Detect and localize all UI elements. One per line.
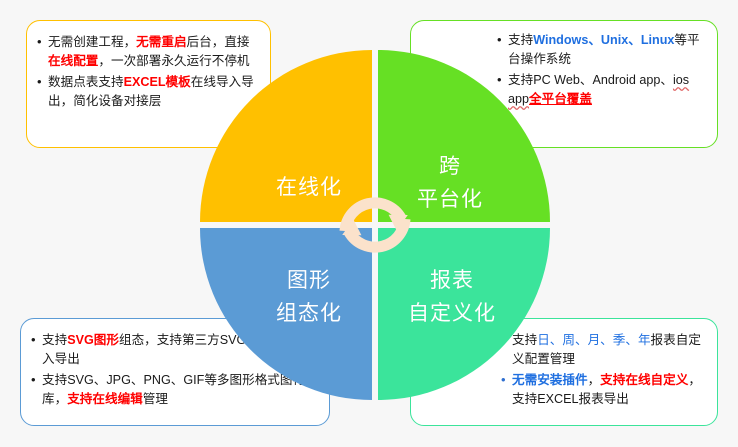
wheel-quadrant-platform[interactable]: 跨 平台化 [378, 50, 550, 222]
wheel-quadrant-report-label: 报表 自定义化 [388, 264, 516, 330]
feature-wheel: 在线化 跨 平台化 图形 组态化 报表 自定义化 [200, 50, 550, 400]
diagram-canvas: 无需创建工程，无需重启后台，直接在线配置，一次部署永久运行不停机 数据点表支持E… [0, 0, 738, 447]
wheel-quadrant-online[interactable]: 在线化 [200, 50, 372, 222]
wheel-quadrant-graphics-label: 图形 组态化 [254, 264, 364, 330]
wheel-quadrant-graphics[interactable]: 图形 组态化 [200, 228, 372, 400]
wheel-quadrant-platform-label: 跨 平台化 [390, 150, 510, 216]
wheel-quadrant-online-label: 在线化 [254, 171, 364, 204]
wheel-quadrant-report[interactable]: 报表 自定义化 [378, 228, 550, 400]
